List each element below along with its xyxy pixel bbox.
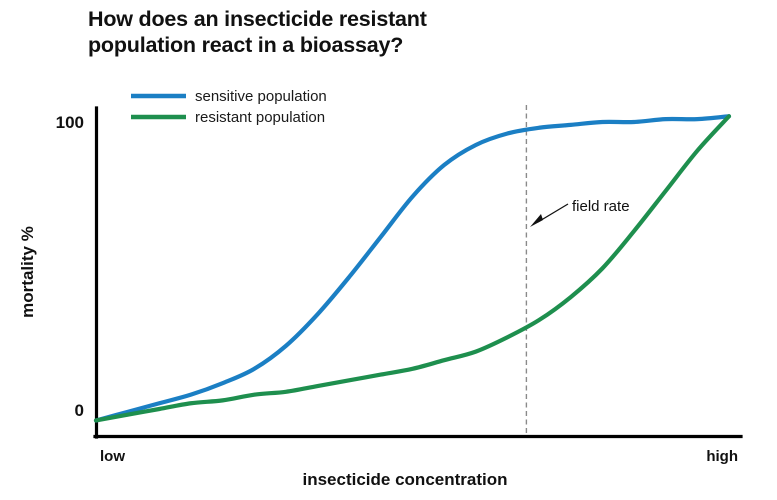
chart-title-line-1: How does an insecticide resistant (88, 7, 427, 31)
x-tick-label-high: high (706, 448, 738, 465)
y-axis-title: mortality % (18, 226, 37, 318)
chart-title-line-2: population react in a bioassay? (88, 33, 403, 57)
legend-label-sensitive: sensitive population (195, 88, 327, 105)
y-tick-label-100: 100 (56, 113, 84, 132)
bioassay-line-chart: How does an insecticide resistant popula… (0, 0, 777, 500)
field-rate-label: field rate (572, 198, 630, 215)
x-axis-title: insecticide concentration (303, 470, 508, 489)
legend-label-resistant: resistant population (195, 109, 325, 126)
x-tick-label-low: low (100, 448, 125, 465)
chart-background (0, 0, 777, 500)
y-tick-label-0: 0 (75, 401, 84, 420)
